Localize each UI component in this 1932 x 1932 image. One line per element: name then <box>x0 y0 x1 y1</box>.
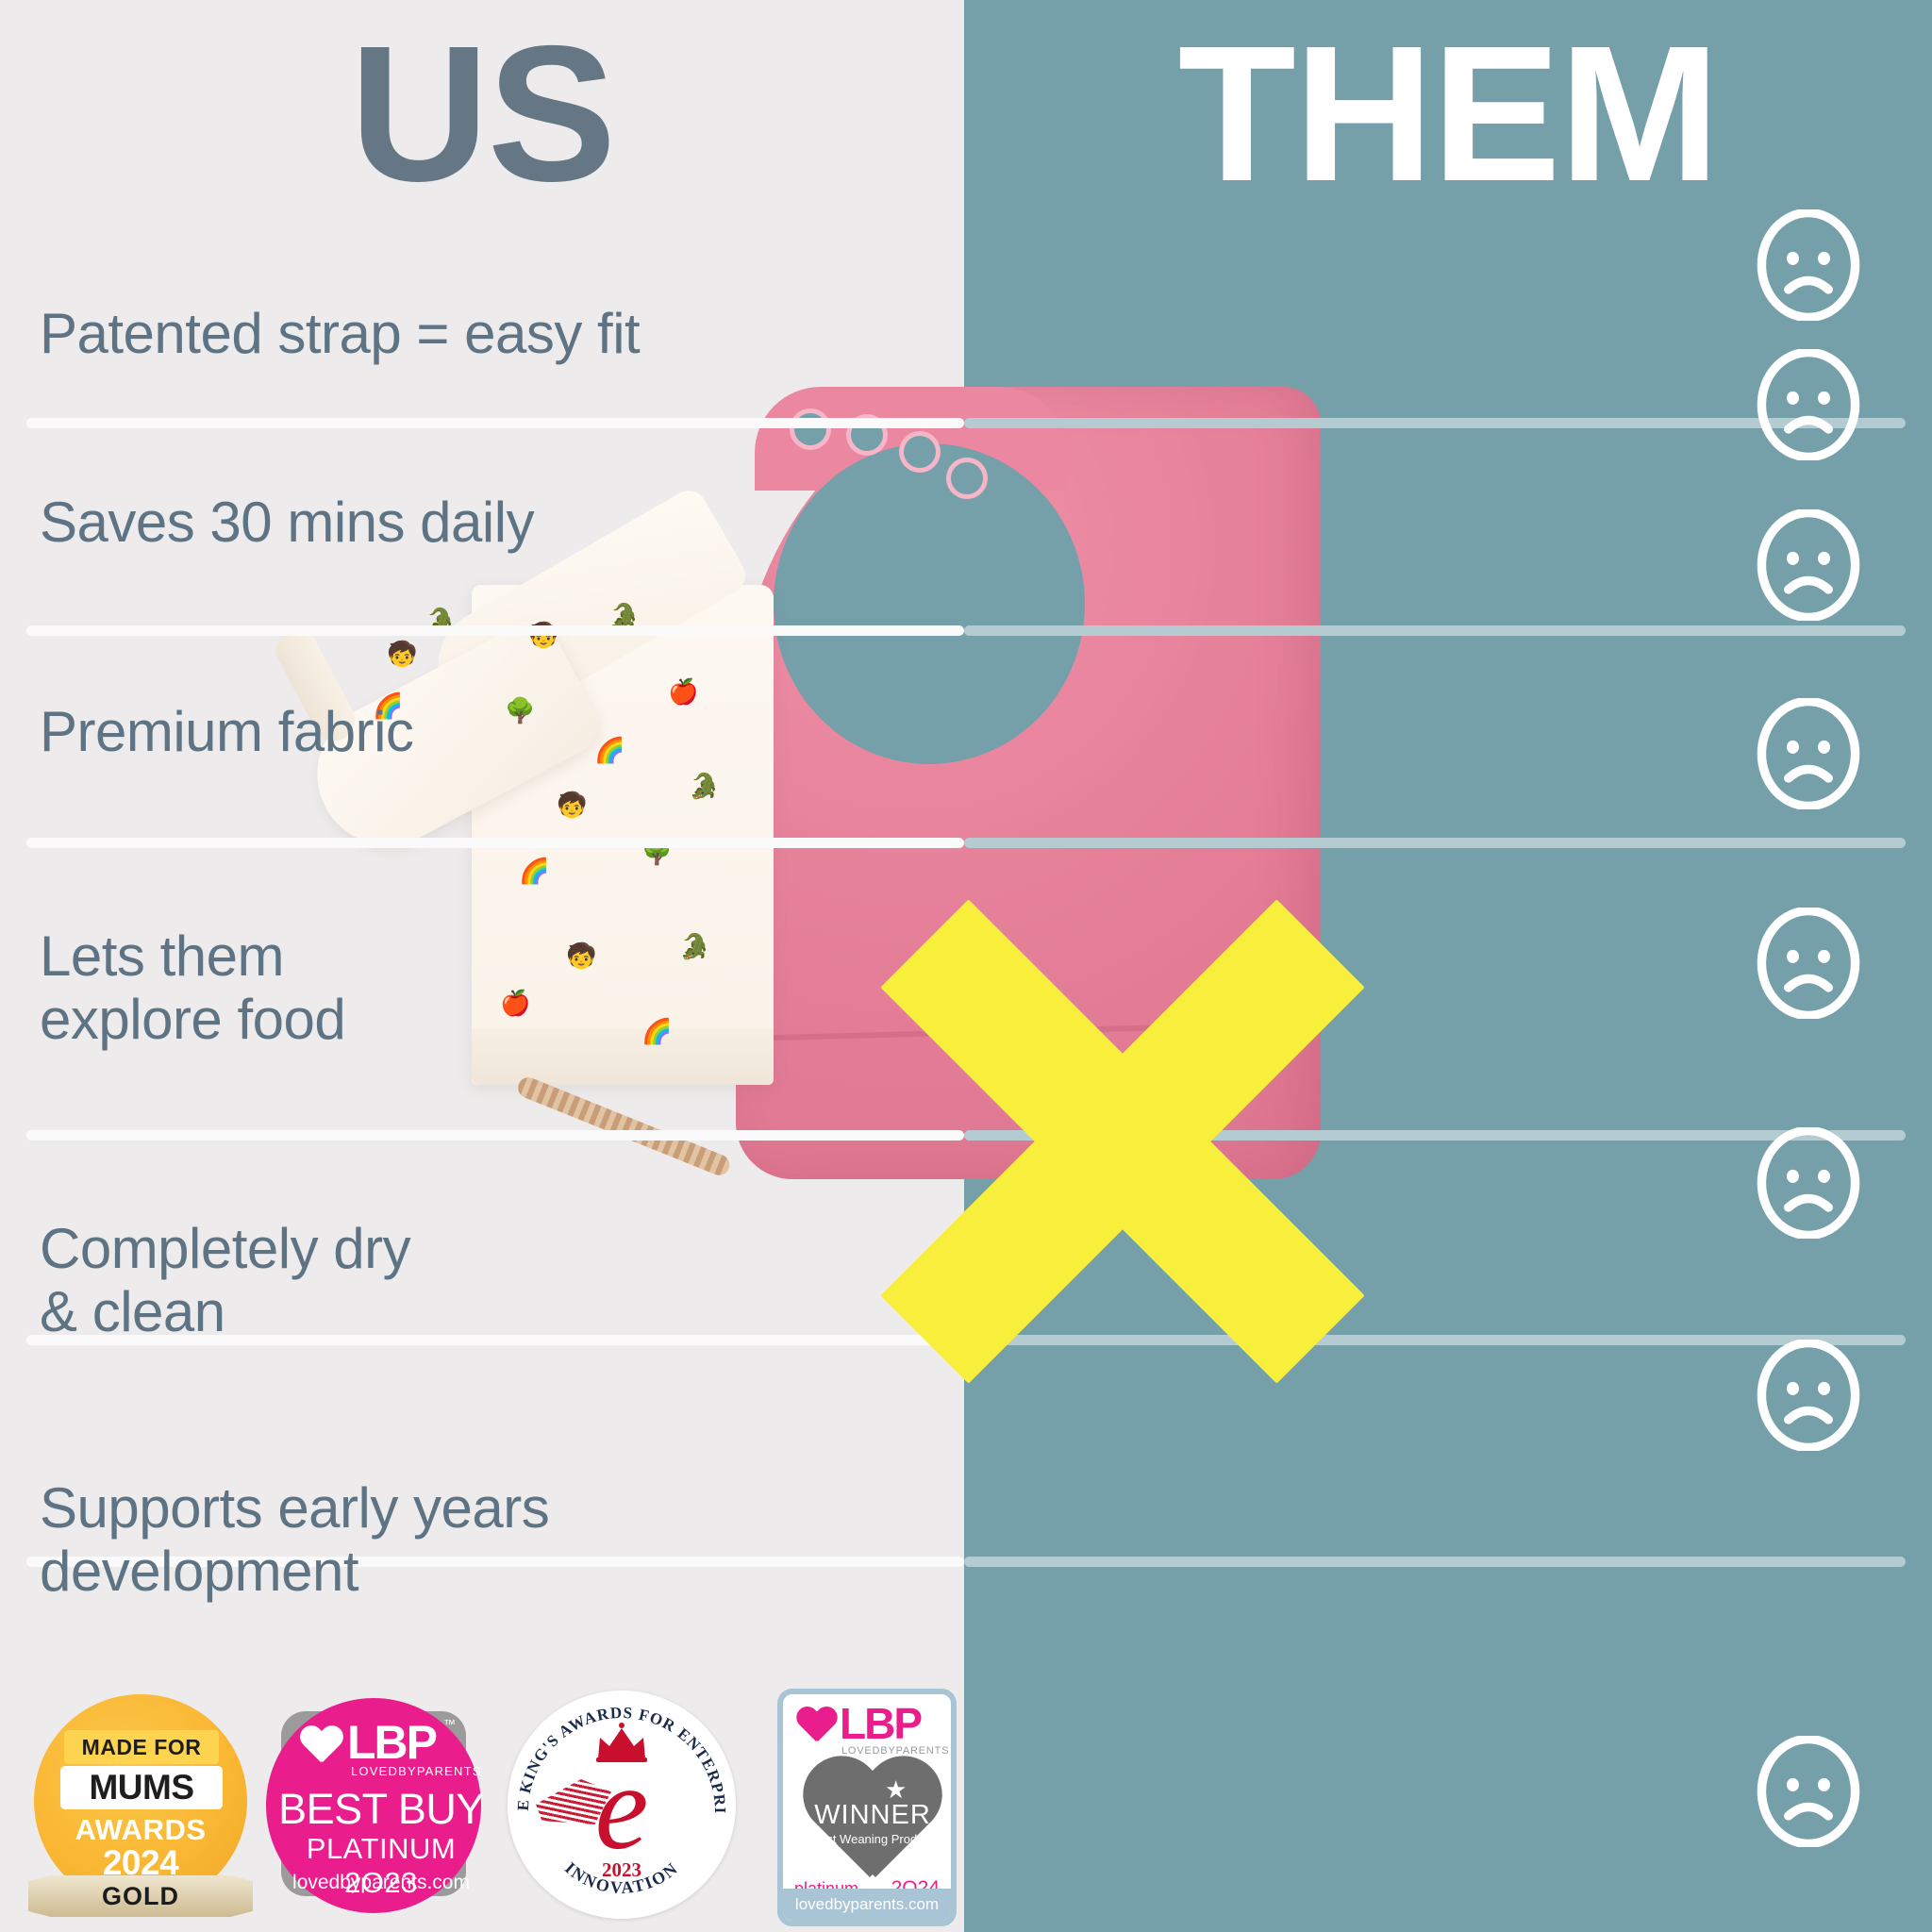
badge-kings-awards: THE KING'S AWARDS FOR ENTERPRISE INNOVAT… <box>504 1689 740 1926</box>
bib-neck-opening <box>774 443 1085 764</box>
feature-label-1: Patented strap = easy fit <box>40 302 640 365</box>
print-motif-crocodile: 🐊 <box>679 934 709 958</box>
bib-snap-hole <box>951 462 983 494</box>
lbp-url-bar: lovedbyparents.com <box>783 1889 951 1921</box>
lbp-brand-label: LBP <box>840 1702 921 1745</box>
lbp-brand-label: LBP <box>347 1719 436 1766</box>
mums-awards-label: AWARDS <box>23 1813 258 1847</box>
kings-year-label: 2023 <box>504 1858 740 1882</box>
print-motif-crocodile: 🐊 <box>689 774 719 798</box>
lbp-badge-content: LBP ™ LOVEDBYPARENTS BEST BUY PLATINUM 2… <box>266 1698 481 1913</box>
sad-face-icon <box>1753 1736 1864 1847</box>
lbp-best-buy-label: BEST BUY <box>266 1785 496 1834</box>
row-divider-right <box>964 838 1906 848</box>
lbp-winner-sublabel: Best Weaning Product <box>783 1832 957 1846</box>
print-motif-baby: 🧒 <box>387 641 417 666</box>
print-motif-rainbow: 🌈 <box>594 738 625 762</box>
comparison-infographic: US THEM 🧒 🐊 🌳 🌈 🍎 <box>0 0 1932 1932</box>
row-divider-right <box>964 625 1906 636</box>
print-motif-baby: 🧒 <box>566 943 596 968</box>
sad-face-icon <box>1753 349 1864 460</box>
sad-face-icon <box>1753 209 1864 321</box>
sad-face-icon <box>1753 698 1864 809</box>
mums-made-for-label: MADE FOR <box>64 1730 219 1764</box>
heart-icon <box>300 1726 343 1766</box>
feature-label-4: Lets them explore food <box>40 924 345 1051</box>
print-motif-rainbow: 🌈 <box>641 1019 672 1043</box>
print-motif-baby: 🧒 <box>557 792 587 817</box>
print-motif-apple: 🍎 <box>668 679 698 704</box>
print-motif-apple: 🍎 <box>500 991 530 1015</box>
lbp-brand-sub: LOVEDBYPARENTS <box>841 1745 949 1757</box>
row-divider <box>0 625 1932 636</box>
smock-hem <box>472 1028 774 1085</box>
x-cross-icon <box>887 906 1358 1377</box>
sad-face-icon <box>1753 908 1864 1019</box>
print-motif-tree: 🌳 <box>505 698 535 723</box>
row-divider <box>0 418 1932 428</box>
trademark-icon: ™ <box>443 1717 456 1731</box>
sad-face-icon <box>1753 1127 1864 1239</box>
row-divider-left <box>26 625 964 636</box>
feature-label-2: Saves 30 mins daily <box>40 491 534 554</box>
star-icon: ★ <box>885 1777 908 1800</box>
row-divider-left <box>26 838 964 848</box>
lbp-url-label: lovedbyparents.com <box>266 1872 496 1894</box>
row-divider-right <box>964 1557 1906 1567</box>
kings-emblem: e <box>555 1751 689 1864</box>
feature-label-3: Premium fabric <box>40 700 413 763</box>
row-divider-left <box>26 418 964 428</box>
smock-waist-strap <box>515 1074 733 1178</box>
award-badges-row: MADE FOR MUMS AWARDS 2024 GOLD LBP ™ LOV… <box>23 1689 957 1924</box>
bib-snap-hole <box>904 436 936 468</box>
lbp-winner-label: WINNER <box>783 1800 957 1831</box>
them-heading: THEM <box>964 17 1932 210</box>
feature-label-5: Completely dry & clean <box>40 1217 410 1343</box>
us-heading: US <box>0 17 964 210</box>
badge-lbp-best-buy: LBP ™ LOVEDBYPARENTS BEST BUY PLATINUM 2… <box>258 1689 494 1923</box>
badge-lbp-winner: LBP LOVEDBYPARENTS ★ WINNER Best Weaning… <box>777 1689 957 1926</box>
lbp-url-label: lovedbyparents.com <box>795 1895 939 1914</box>
mums-ribbon: GOLD <box>28 1875 253 1917</box>
mums-brand-label: MUMS <box>60 1766 223 1809</box>
row-divider-left <box>26 1130 964 1141</box>
sad-face-icon <box>1753 1340 1864 1451</box>
mums-gold-label: GOLD <box>102 1882 179 1911</box>
heart-icon <box>796 1707 838 1745</box>
badge-made-for-mums: MADE FOR MUMS AWARDS 2024 GOLD <box>23 1689 258 1923</box>
row-divider <box>0 838 1932 848</box>
feature-label-6: Supports early years development <box>40 1476 549 1603</box>
lbp-winner-card: LBP LOVEDBYPARENTS ★ WINNER Best Weaning… <box>777 1689 957 1926</box>
sad-face-icon <box>1753 509 1864 621</box>
lbp-brand-sub: LOVEDBYPARENTS <box>351 1764 482 1778</box>
print-motif-rainbow: 🌈 <box>519 858 549 883</box>
